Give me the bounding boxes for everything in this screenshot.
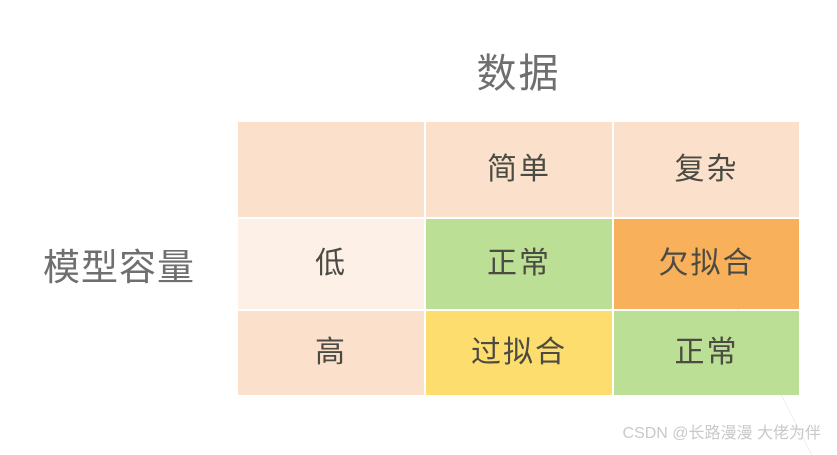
column-header-complex: 复杂 [614,122,799,217]
column-axis-title: 数据 [238,50,799,98]
column-header-simple: 简单 [426,122,612,217]
matrix-corner-cell [238,122,424,217]
figure-canvas: 数据 模型容量 简单 复杂 低 正常 欠拟合 高 过拟合 正常 CSDN @长路… [0,0,837,455]
fitting-matrix-table: 简单 复杂 低 正常 欠拟合 高 过拟合 正常 [238,122,799,393]
row-axis-title: 模型容量 [0,245,238,291]
cell-low-complex-underfit: 欠拟合 [614,219,799,309]
cell-high-simple-overfit: 过拟合 [426,311,612,395]
row-header-high: 高 [238,311,424,395]
cell-low-simple-normal: 正常 [426,219,612,309]
row-header-low: 低 [238,219,424,309]
cell-high-complex-normal: 正常 [614,311,799,395]
csdn-watermark: CSDN @长路漫漫 大佬为伴 [0,424,821,444]
